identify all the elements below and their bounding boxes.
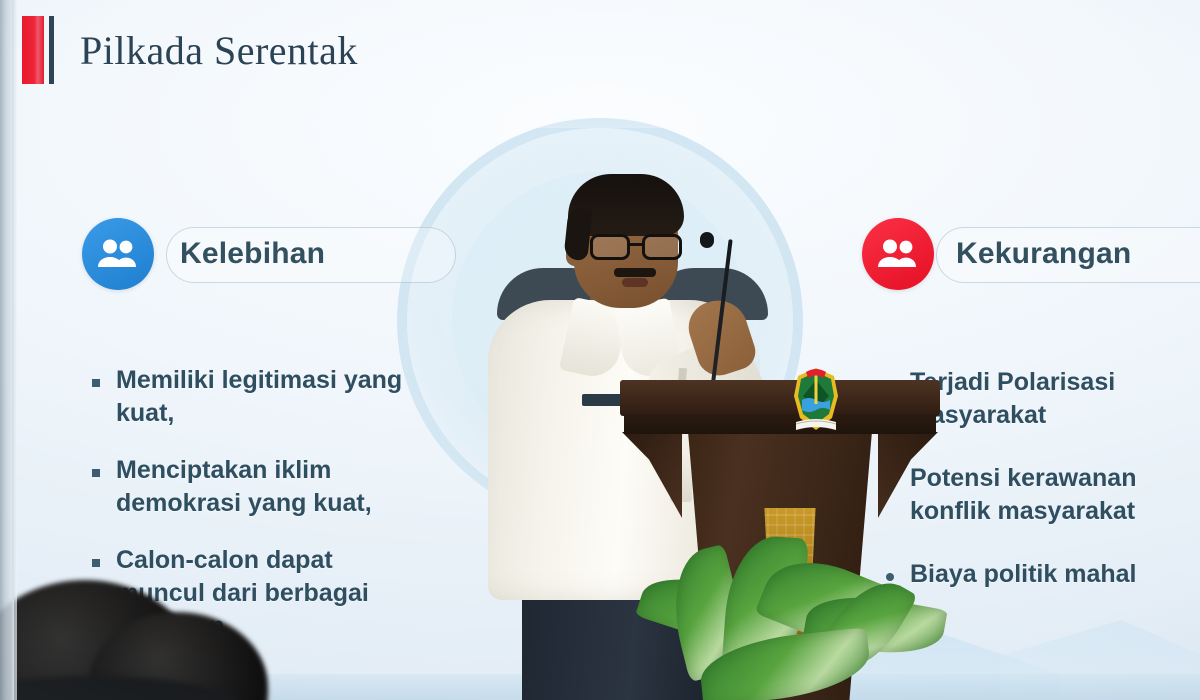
podium-wing-right — [878, 432, 938, 518]
cons-bullet-text: Terjadi Polarisasi Masyarakat — [910, 366, 1185, 432]
presentation-screenshot: Pilkada Serentak Kelebihan Kekurangan — [0, 0, 1200, 700]
speaker-moustache — [614, 268, 656, 277]
two-people-icon — [876, 237, 920, 271]
cons-bullet-text: Potensi kerawanan konflik masyarakat — [910, 462, 1185, 528]
speaker-glasses-icon — [590, 234, 682, 260]
logo-accent-bar — [49, 16, 54, 84]
bullet-marker-icon — [92, 469, 100, 477]
podium-top-face — [624, 414, 936, 434]
glasses-bridge — [630, 243, 642, 246]
slide-title-block: Pilkada Serentak — [18, 14, 358, 86]
logo-red-bar — [22, 16, 44, 84]
bullet-marker-icon — [92, 379, 100, 387]
bullet-marker-icon — [92, 559, 100, 567]
badge-kelebihan: Kelebihan — [82, 218, 325, 290]
microphone-head-icon — [700, 232, 714, 248]
red-bar-logo-icon — [18, 14, 62, 86]
pros-bullet-text: Memiliki legitimasi yang kuat, — [116, 364, 416, 430]
list-item: Menciptakan iklim demokrasi yang kuat, — [92, 454, 422, 520]
badge-kekurangan: Kekurangan — [862, 218, 1131, 290]
podium-top-surface — [620, 380, 940, 416]
badge-label-kekurangan: Kekurangan — [956, 237, 1131, 271]
list-item: Memiliki legitimasi yang kuat, — [92, 364, 422, 430]
podium-wing-left — [622, 432, 682, 518]
glasses-lens-right — [642, 234, 682, 260]
glasses-lens-left — [590, 234, 630, 260]
badge-label-kelebihan: Kelebihan — [180, 237, 325, 271]
two-people-icon — [96, 237, 140, 271]
page-title: Pilkada Serentak — [80, 27, 358, 74]
kekurangan-icon-circle — [862, 218, 934, 290]
potted-plant — [640, 540, 970, 700]
kelebihan-icon-circle — [82, 218, 154, 290]
pros-bullet-text: Menciptakan iklim demokrasi yang kuat, — [116, 454, 416, 520]
projection-screen-edge-inner — [12, 0, 17, 700]
speaker-mouth — [622, 278, 648, 287]
central-java-emblem-icon — [788, 366, 844, 440]
